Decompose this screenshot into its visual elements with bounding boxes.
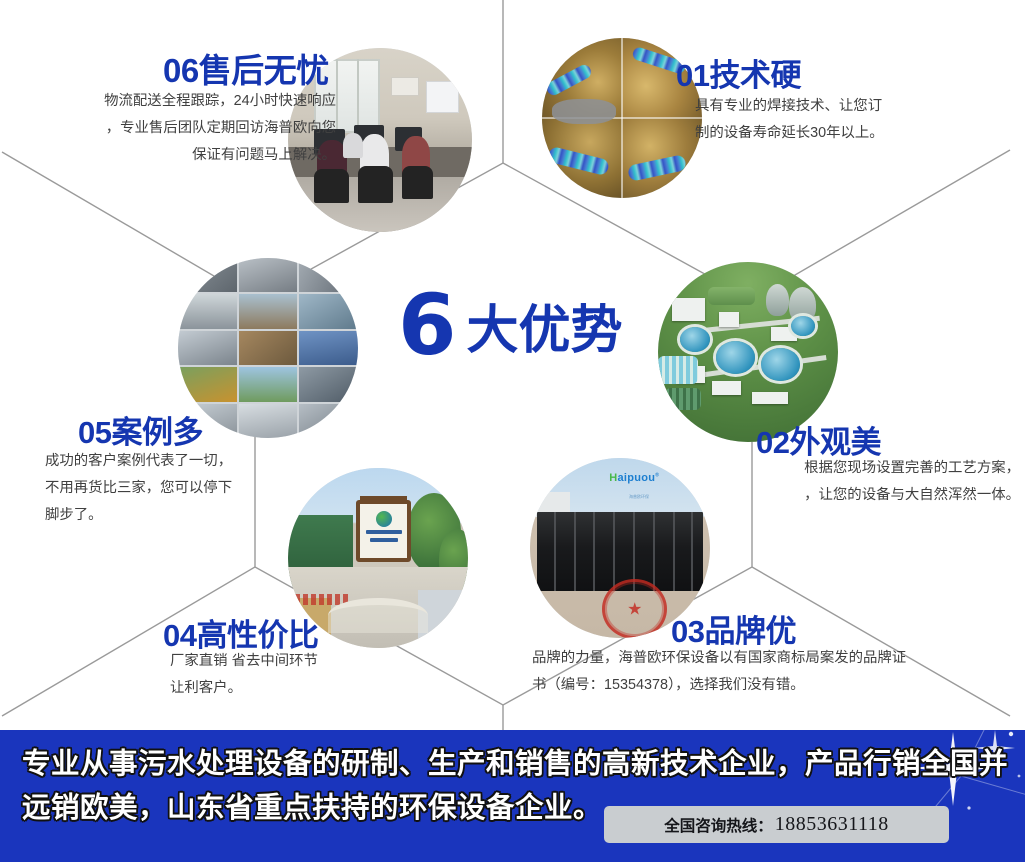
center-label: 6大优势 xyxy=(398,283,622,367)
center-number: 6 xyxy=(398,276,456,374)
advantage-photo-02 xyxy=(658,262,838,442)
infographic-root: Haipuou® 海普欧环保 ★ xyxy=(0,0,1025,862)
banner-line-1: 专业从事污水处理设备的研制、生产和销售的高新技术企业，产品行销全国并 xyxy=(22,742,662,786)
hotline-label: 全国咨询热线： xyxy=(664,814,773,836)
advantage-heading-05: 05案例多 xyxy=(78,407,203,452)
advantage-desc-02: 根据您现场设置完善的工艺方案， ，让您的设备与大自然浑然一体。 xyxy=(690,455,1020,509)
advantage-photo-05 xyxy=(178,258,358,438)
advantage-desc-06: 物流配送全程跟踪，24小时快速响应 ，专业售后团队定期回访海普欧向您 保证有问题… xyxy=(10,88,336,169)
advantage-heading-06: 06售后无忧 xyxy=(163,44,329,92)
hotline-box[interactable]: 全国咨询热线： 18853631118 xyxy=(604,806,949,843)
photo-brand-logo: Haipuou® xyxy=(609,472,659,484)
advantage-heading-01: 01技术硬 xyxy=(676,50,801,95)
hotline-number: 18853631118 xyxy=(775,813,889,836)
advantage-desc-03: 品牌的力量，海普欧环保设备以有国家商标局案发的品牌证 书（编号：15354378… xyxy=(532,645,1025,699)
banner-text: 专业从事污水处理设备的研制、生产和销售的高新技术企业，产品行销全国并 远销欧美，… xyxy=(22,742,662,830)
advantage-desc-05: 成功的客户案例代表了一切， 不用再货比三家，您可以停下 脚步了。 xyxy=(45,448,305,529)
center-text: 大优势 xyxy=(466,302,622,360)
advantage-desc-01: 具有专业的焊接技术、让您订 制的设备寿命延长30年以上。 xyxy=(695,93,995,147)
trademark-stamp-icon: ★ xyxy=(602,579,667,638)
advantage-desc-04: 厂家直销 省去中间环节 让利客户。 xyxy=(170,648,490,702)
banner-line-2: 远销欧美，山东省重点扶持的环保设备企业。 xyxy=(22,786,662,830)
